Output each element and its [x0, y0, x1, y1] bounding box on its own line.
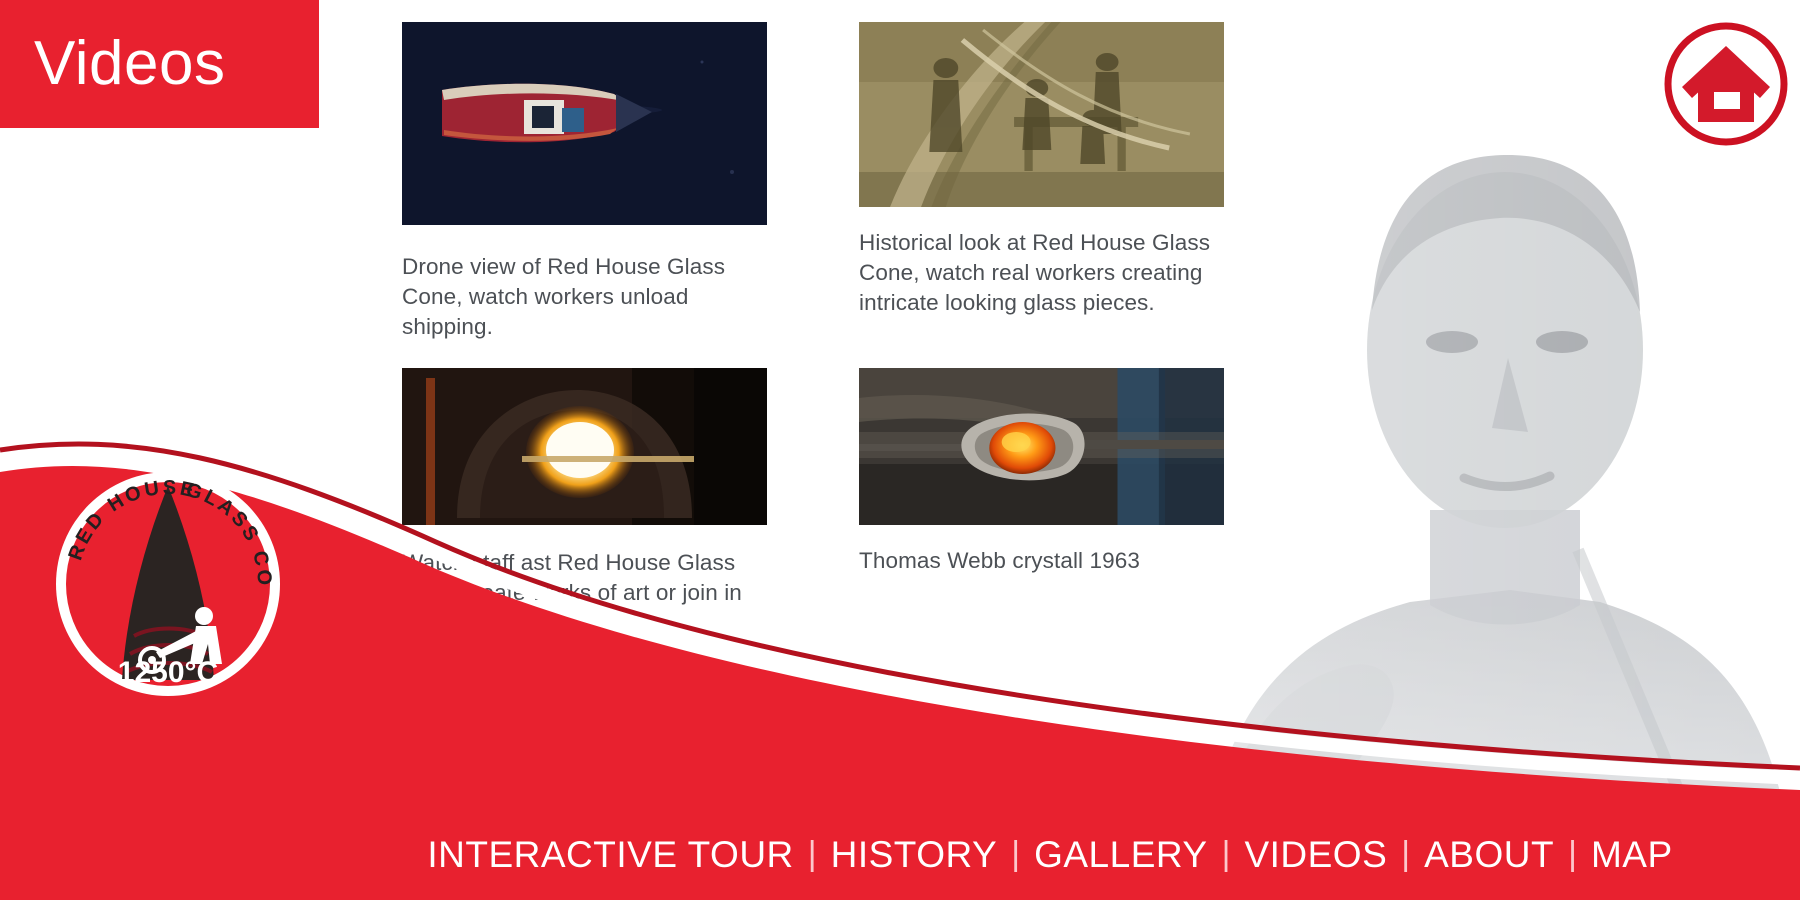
nav-item-videos[interactable]: VIDEOS [1230, 836, 1401, 873]
video-thumbnail-drone[interactable] [402, 22, 767, 225]
logo-temperature: 1250°C [118, 656, 218, 689]
page-title-banner: Videos [0, 0, 319, 128]
logo-badge[interactable]: RED HOUSE GLASS CONE 1250°C [52, 468, 284, 700]
nav-item-interactive-tour[interactable]: INTERACTIVE TOUR [413, 836, 807, 873]
nav-separator: | [1222, 837, 1231, 871]
video-thumbnail-historical[interactable] [859, 22, 1224, 207]
video-caption: Drone view of Red House Glass Cone, watc… [402, 252, 767, 342]
video-card-drone[interactable]: Drone view of Red House Glass Cone, watc… [402, 22, 767, 342]
nav-item-map[interactable]: MAP [1577, 836, 1687, 873]
video-card-historical[interactable]: Historical look at Red House Glass Cone,… [859, 22, 1224, 342]
nav-separator: | [1011, 837, 1020, 871]
video-caption: Historical look at Red House Glass Cone,… [859, 228, 1224, 318]
nav-item-about[interactable]: ABOUT [1410, 836, 1568, 873]
app-screen: Videos [0, 0, 1800, 900]
home-button[interactable] [1660, 18, 1792, 150]
nav-separator: | [1568, 837, 1577, 871]
nav-separator: | [1401, 837, 1410, 871]
nav-separator: | [808, 837, 817, 871]
nav-item-history[interactable]: HISTORY [817, 836, 1012, 873]
home-icon [1660, 18, 1792, 150]
page-title: Videos [0, 33, 225, 95]
bottom-navigation: INTERACTIVE TOUR | HISTORY | GALLERY | V… [0, 808, 1800, 900]
nav-item-gallery[interactable]: GALLERY [1020, 836, 1222, 873]
